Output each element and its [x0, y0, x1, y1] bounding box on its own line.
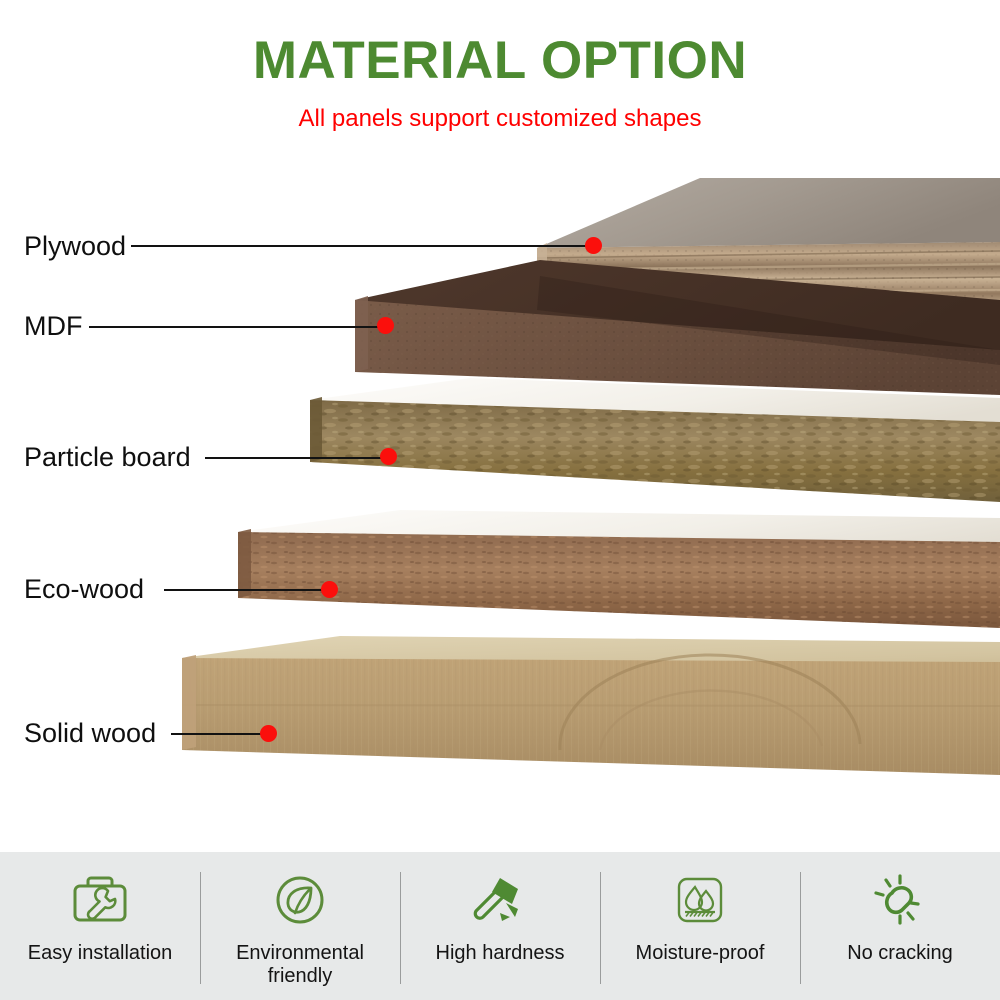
feature-environmental-friendly: Environmental friendly — [200, 852, 400, 1000]
callout-label-particle-board: Particle board — [24, 444, 191, 471]
toolbox-wrench-icon — [68, 870, 132, 934]
leaf-circle-icon — [268, 870, 332, 934]
no-crack-icon — [868, 870, 932, 934]
header: MATERIAL OPTION All panels support custo… — [0, 0, 1000, 150]
callout-dot-mdf — [377, 317, 394, 334]
feature-high-hardness: High hardness — [400, 852, 600, 1000]
callout-label-solid-wood: Solid wood — [24, 720, 156, 747]
feature-no-cracking: No cracking — [800, 852, 1000, 1000]
callout-label-eco-wood: Eco-wood — [24, 576, 144, 603]
feature-easy-installation: Easy installation — [0, 852, 200, 1000]
panel-eco-wood — [238, 510, 1000, 628]
callout-dot-eco-wood — [321, 581, 338, 598]
callout-leader-plywood — [131, 245, 586, 247]
callout-label-mdf: MDF — [24, 313, 82, 340]
feature-bar: Easy installation Environmental friendly… — [0, 852, 1000, 1000]
panel-particle-board — [310, 378, 1000, 502]
feature-label: Environmental friendly — [210, 942, 390, 988]
feature-label: No cracking — [847, 942, 953, 965]
feature-label: Easy installation — [28, 942, 173, 965]
water-drops-icon — [668, 870, 732, 934]
page-subtitle: All panels support customized shapes — [0, 107, 1000, 131]
hammer-icon — [468, 870, 532, 934]
callout-leader-eco-wood — [164, 589, 322, 591]
callout-leader-solid-wood — [171, 733, 262, 735]
panel-solid-wood — [182, 636, 1000, 775]
callout-leader-particle-board — [205, 457, 381, 459]
callout-leader-mdf — [89, 326, 379, 328]
callout-dot-plywood — [585, 237, 602, 254]
callout-dot-solid-wood — [260, 725, 277, 742]
callout-dot-particle-board — [380, 448, 397, 465]
page-title: MATERIAL OPTION — [0, 34, 1000, 87]
callout-label-plywood: Plywood — [24, 233, 126, 260]
feature-label: Moisture-proof — [636, 942, 765, 965]
feature-label: High hardness — [436, 942, 565, 965]
feature-moisture-proof: Moisture-proof — [600, 852, 800, 1000]
